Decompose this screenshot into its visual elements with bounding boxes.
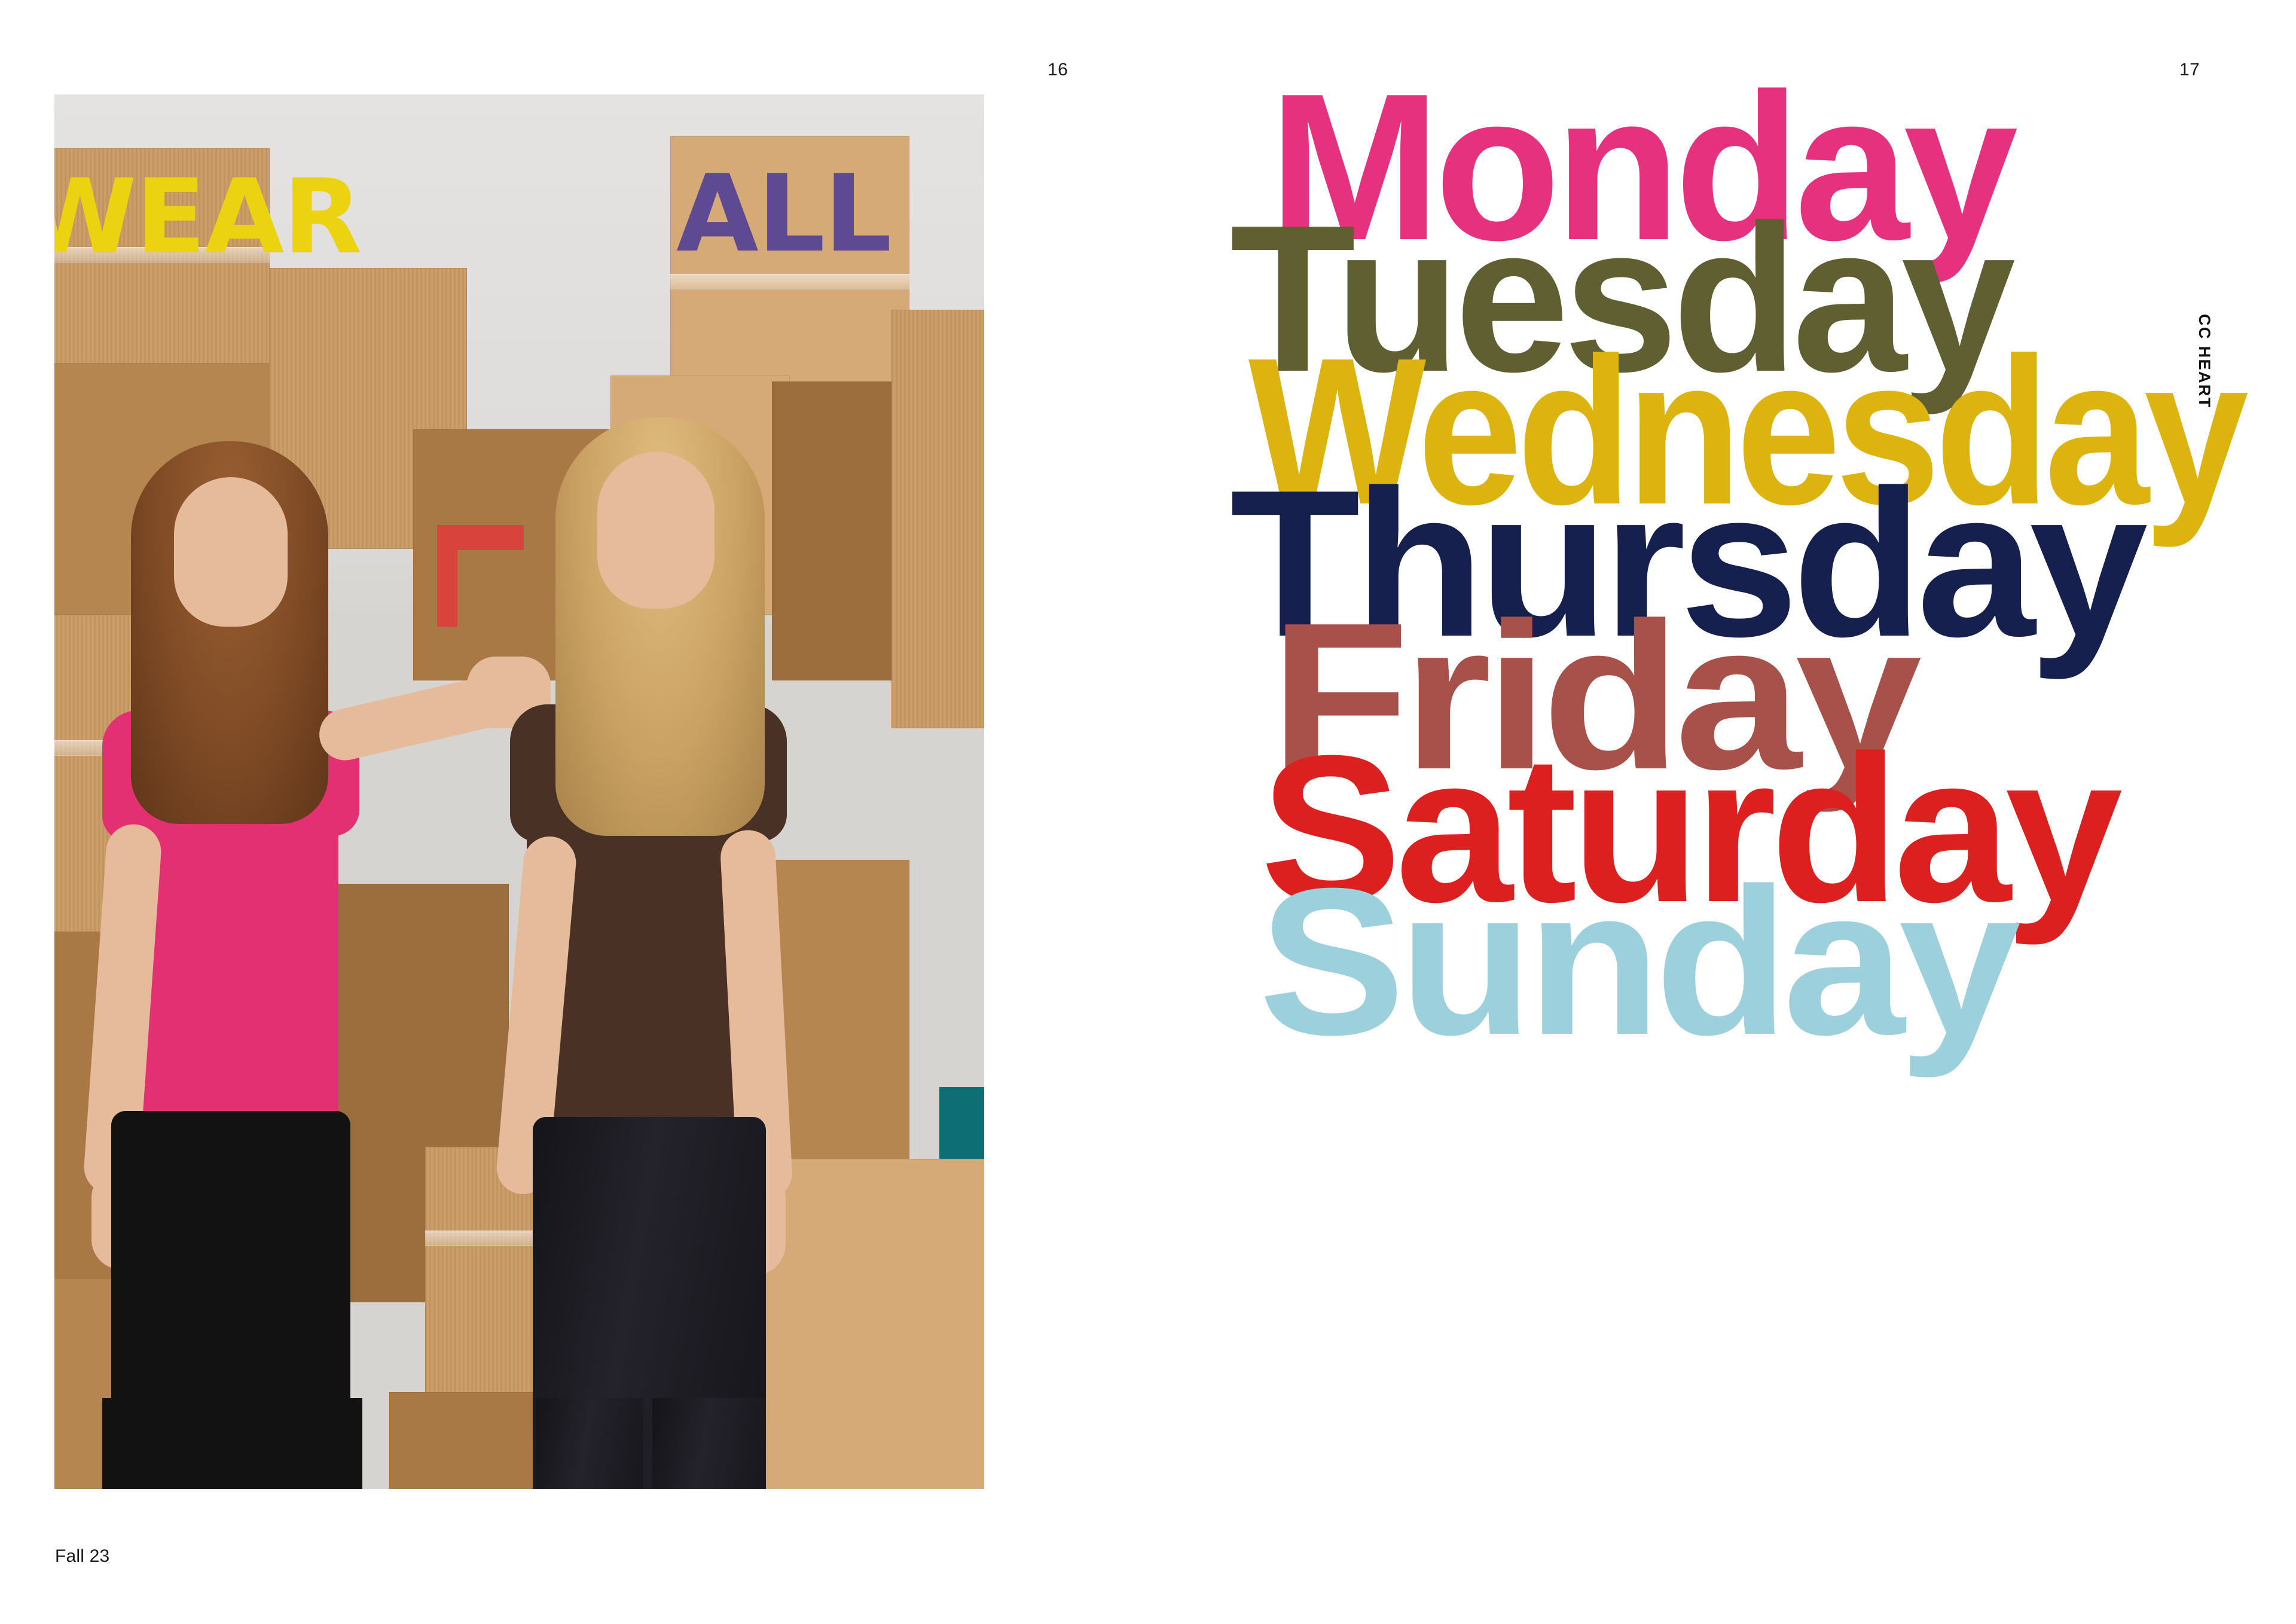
weekday-sunday[interactable]: Sunday xyxy=(1259,857,2014,1067)
lookbook-photo: WEAR ALL xyxy=(54,94,984,1489)
folio-left-page: 16 xyxy=(1048,60,1068,80)
folio-right-page: 17 xyxy=(2179,60,2200,80)
box-paint-wear: WEAR xyxy=(54,171,361,264)
cardboard-box xyxy=(760,1159,984,1489)
model-left-bottom xyxy=(102,1398,228,1489)
model-right-face xyxy=(597,452,715,609)
packing-tape xyxy=(670,274,909,289)
model-left-bottom xyxy=(234,1398,362,1489)
catalogue-spread: WEAR ALL xyxy=(0,0,2296,1624)
model-right-bottom xyxy=(652,1398,766,1489)
coral-paint-swatch xyxy=(437,525,457,627)
model-right-bottom xyxy=(536,1398,643,1489)
season-label: Fall 23 xyxy=(55,1546,109,1567)
box-paint-all: ALL xyxy=(676,166,891,262)
cardboard-box xyxy=(891,310,984,728)
model-left-face xyxy=(174,477,288,627)
